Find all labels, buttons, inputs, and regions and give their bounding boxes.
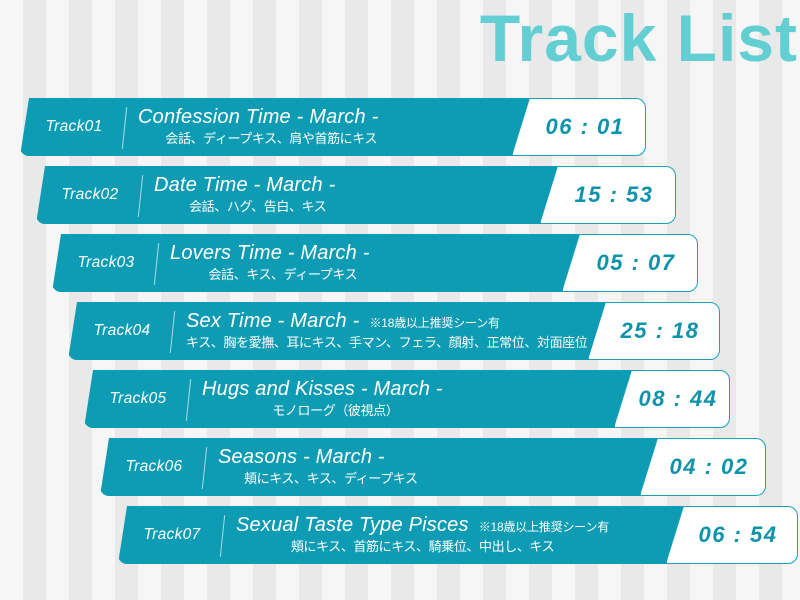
track-text-block: Seasons - March -頬にキス、キス、ディープキス [218, 438, 418, 496]
track-duration: 06 : 01 [534, 114, 625, 140]
track-subtitle: 会話、ハグ、告白、キス [154, 198, 335, 216]
track-duration: 05 : 07 [585, 250, 676, 276]
track-title: Seasons - March - [218, 446, 385, 469]
track-number: Track03 [58, 234, 154, 292]
track-title-line: Sex Time - March -※18歳以上推奨シーン有 [186, 310, 587, 333]
track-duration-box: 25 : 18 [588, 302, 720, 360]
track-duration-box: 15 : 53 [540, 166, 676, 224]
track-number: Track06 [106, 438, 202, 496]
track-title-line: Lovers Time - March - [170, 242, 370, 265]
track-subtitle: 会話、キス、ディープキス [170, 266, 370, 284]
track-row[interactable]: Track03Lovers Time - March -会話、キス、ディープキス… [0, 234, 800, 292]
track-text-block: Date Time - March -会話、ハグ、告白、キス [154, 166, 335, 224]
track-subtitle: 頬にキス、キス、ディープキス [218, 470, 418, 488]
track-age-note: ※18歳以上推奨シーン有 [479, 521, 609, 535]
track-title: Confession Time - March - [138, 106, 378, 129]
track-text-block: Hugs and Kisses - March -モノローグ（彼視点） [202, 370, 443, 428]
track-title: Date Time - March - [154, 174, 335, 197]
track-duration: 04 : 02 [658, 454, 749, 480]
track-duration-box: 06 : 01 [512, 98, 646, 156]
track-duration-box: 05 : 07 [562, 234, 698, 292]
track-text-block: Sex Time - March -※18歳以上推奨シーン有キス、胸を愛撫、耳に… [186, 302, 587, 360]
track-duration-box: 08 : 44 [614, 370, 730, 428]
track-duration: 08 : 44 [627, 386, 718, 412]
track-title-line: Date Time - March - [154, 174, 335, 197]
track-title: Hugs and Kisses - March - [202, 378, 443, 401]
track-title-line: Confession Time - March - [138, 106, 378, 129]
track-row[interactable]: Track01Confession Time - March -会話、ディープキ… [0, 98, 800, 156]
track-list: Track01Confession Time - March -会話、ディープキ… [0, 98, 800, 574]
track-title: Sexual Taste Type Pisces [236, 514, 469, 537]
track-title-line: Seasons - March - [218, 446, 418, 469]
track-number: Track04 [74, 302, 170, 360]
track-row[interactable]: Track04Sex Time - March -※18歳以上推奨シーン有キス、… [0, 302, 800, 360]
page-title: Track List [480, 2, 798, 75]
track-title-line: Hugs and Kisses - March - [202, 378, 443, 401]
track-number: Track05 [90, 370, 186, 428]
track-title-line: Sexual Taste Type Pisces※18歳以上推奨シーン有 [236, 514, 609, 537]
track-title: Sex Time - March - [186, 310, 359, 333]
track-duration: 25 : 18 [609, 318, 700, 344]
track-subtitle: キス、胸を愛撫、耳にキス、手マン、フェラ、顔射、正常位、対面座位 [186, 334, 587, 352]
slide-canvas: Track List Track01Confession Time - Marc… [0, 0, 800, 600]
track-number: Track07 [124, 506, 220, 564]
track-number: Track01 [26, 98, 122, 156]
track-text-block: Sexual Taste Type Pisces※18歳以上推奨シーン有頬にキス… [236, 506, 609, 564]
track-subtitle: モノローグ（彼視点） [202, 402, 443, 420]
track-age-note: ※18歳以上推奨シーン有 [369, 317, 499, 331]
track-duration: 06 : 54 [687, 522, 778, 548]
track-row[interactable]: Track07Sexual Taste Type Pisces※18歳以上推奨シ… [0, 506, 800, 564]
track-row[interactable]: Track05Hugs and Kisses - March -モノローグ（彼視… [0, 370, 800, 428]
track-duration-box: 04 : 02 [640, 438, 766, 496]
track-subtitle: 会話、ディープキス、肩や首筋にキス [138, 130, 378, 148]
track-subtitle: 頬にキス、首筋にキス、騎乗位、中出し、キス [236, 538, 609, 556]
track-text-block: Confession Time - March -会話、ディープキス、肩や首筋に… [138, 98, 378, 156]
track-duration: 15 : 53 [563, 182, 654, 208]
track-row[interactable]: Track02Date Time - March -会話、ハグ、告白、キス15 … [0, 166, 800, 224]
track-title: Lovers Time - March - [170, 242, 370, 265]
track-text-block: Lovers Time - March -会話、キス、ディープキス [170, 234, 370, 292]
track-row[interactable]: Track06Seasons - March -頬にキス、キス、ディープキス04… [0, 438, 800, 496]
track-duration-box: 06 : 54 [666, 506, 798, 564]
track-number: Track02 [42, 166, 138, 224]
